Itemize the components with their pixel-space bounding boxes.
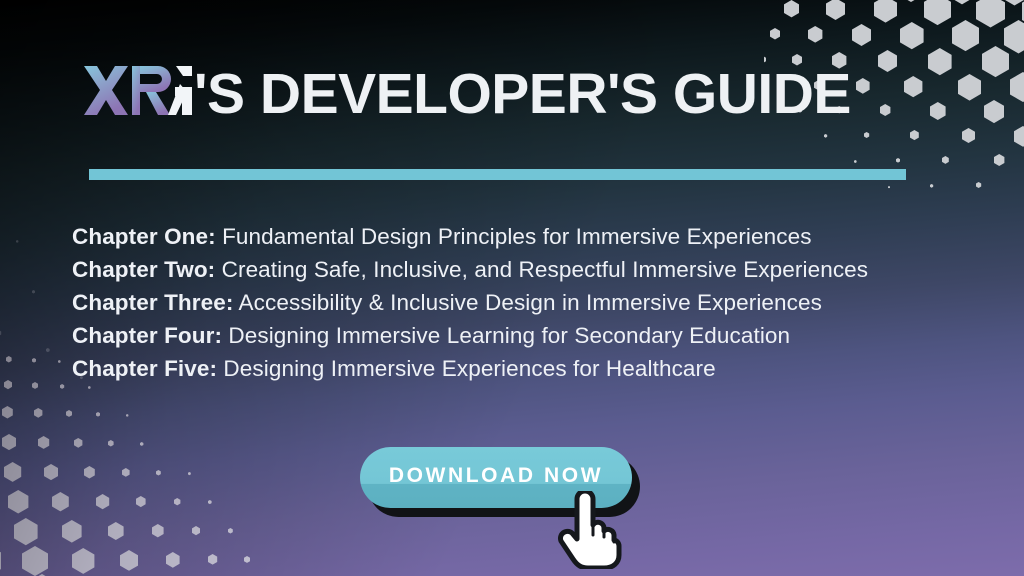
chapter-label: Chapter Five: [72,356,217,381]
page-title-text: 'S DEVELOPER'S GUIDE [194,66,851,123]
chapter-label: Chapter Four: [72,323,222,348]
chapter-list-item: Chapter Five: Designing Immersive Experi… [72,352,972,385]
chapter-label: Chapter One: [72,224,216,249]
download-cta: DOWNLOAD NOW [360,447,640,517]
chapter-title: Creating Safe, Inclusive, and Respectful… [215,257,868,282]
chapter-list-item: Chapter Three: Accessibility & Inclusive… [72,286,972,319]
chapter-list: Chapter One: Fundamental Design Principl… [72,220,972,385]
chapter-list-item: Chapter Two: Creating Safe, Inclusive, a… [72,253,972,286]
chapter-title: Fundamental Design Principles for Immers… [216,224,812,249]
chapter-label: Chapter Three: [72,290,233,315]
title-divider-rule [89,169,906,180]
chapter-label: Chapter Two: [72,257,215,282]
chapter-title: Designing Immersive Learning for Seconda… [222,323,790,348]
download-now-button[interactable]: DOWNLOAD NOW [360,447,632,508]
xra-logo-icon [84,62,192,118]
poster-canvas: 'S DEVELOPER'S GUIDE Chapter One: Fundam… [0,0,1024,576]
chapter-title: Accessibility & Inclusive Design in Imme… [233,290,822,315]
chapter-list-item: Chapter One: Fundamental Design Principl… [72,220,972,253]
chapter-list-item: Chapter Four: Designing Immersive Learni… [72,319,972,352]
chapter-title: Designing Immersive Experiences for Heal… [217,356,716,381]
page-title: 'S DEVELOPER'S GUIDE [84,58,851,124]
